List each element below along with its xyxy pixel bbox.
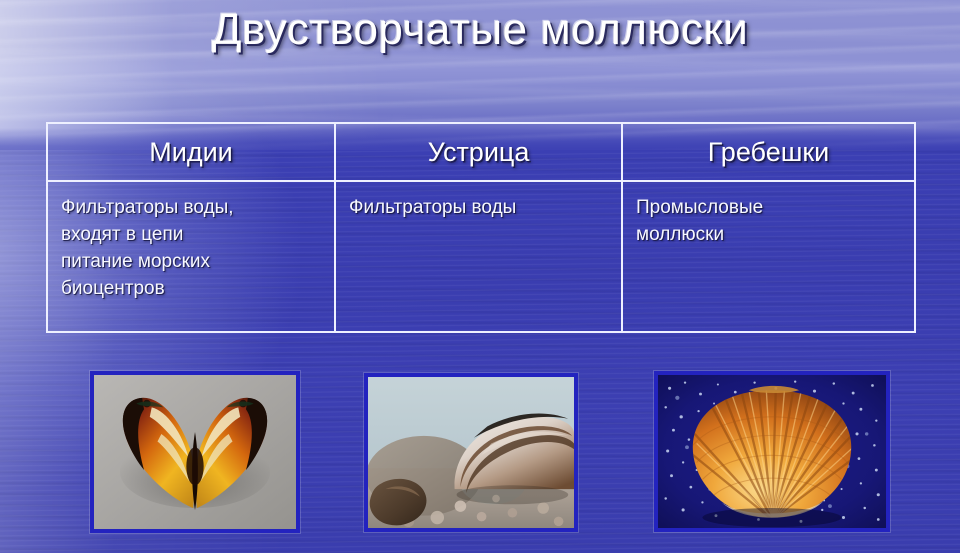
oyster-photo-image [368,377,574,528]
scallop-photo-frame [654,371,890,532]
oyster-photo-frame [364,373,578,532]
table-header-oysters: Устрица [336,124,623,180]
table-body-row: Фильтраторы воды, входят в цепи питание … [48,182,914,331]
oyster-photo [368,377,574,528]
mussel-photo-frame [90,371,300,533]
mussel-photo-image [94,375,296,529]
table-header-mussels: Мидии [48,124,336,180]
comparison-table: Мидии Устрица Гребешки Фильтраторы воды,… [46,122,916,333]
mussel-photo [94,375,296,529]
scallop-photo-image [658,375,886,528]
table-header-scallops: Гребешки [623,124,914,180]
slide-canvas: Двустворчатые моллюски Мидии Устрица Гре… [0,0,960,553]
table-cell-scallops-description: Промысловые моллюски [623,182,914,331]
slide-title: Двустворчатые моллюски [0,2,960,58]
table-header-row: Мидии Устрица Гребешки [48,124,914,182]
table-cell-oysters-description: Фильтраторы воды [336,182,623,331]
scallop-photo [658,375,886,528]
table-cell-mussels-description: Фильтраторы воды, входят в цепи питание … [48,182,336,331]
